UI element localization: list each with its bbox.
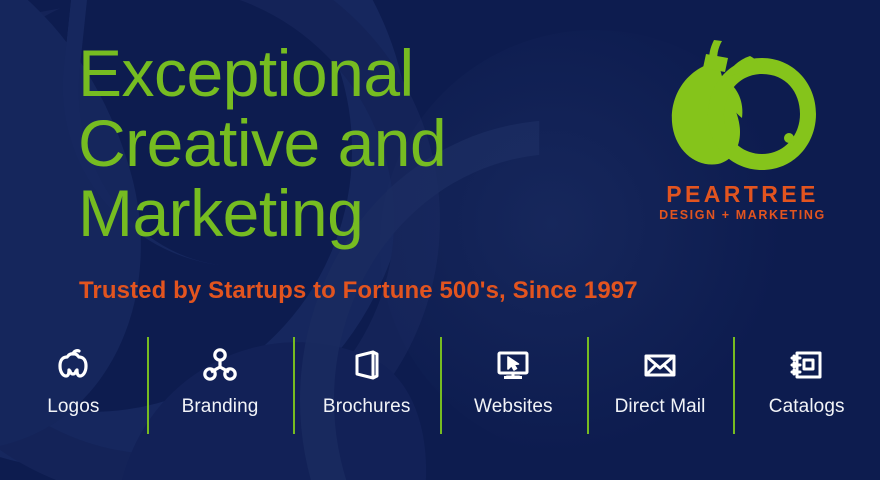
network-nodes-icon (197, 342, 243, 388)
service-item-websites[interactable]: Websites (440, 337, 587, 434)
hero-subheadline: Trusted by Startups to Fortune 500's, Si… (79, 277, 638, 305)
service-item-logos[interactable]: Logos (0, 337, 147, 434)
logo-tagline: DESIGN + MARKETING (650, 207, 835, 223)
service-label: Websites (474, 396, 553, 418)
logo-wordmark: PEARTREE (650, 181, 835, 207)
service-item-brochures[interactable]: Brochures (293, 337, 440, 434)
service-label: Direct Mail (615, 396, 706, 418)
peartree-marketing-banner: Exceptional Creative and Marketing Trust… (0, 0, 880, 480)
folded-brochure-icon (344, 342, 390, 388)
service-item-catalogs[interactable]: Catalogs (733, 337, 880, 434)
service-label: Branding (182, 396, 259, 418)
monitor-cursor-icon (490, 342, 536, 388)
apple-outline-icon (50, 342, 96, 388)
service-label: Catalogs (769, 396, 845, 418)
envelope-icon (637, 342, 683, 388)
hero-headline: Exceptional Creative and Marketing (78, 38, 446, 248)
service-item-branding[interactable]: Branding (147, 337, 294, 434)
peartree-pear-apple-mark (658, 32, 828, 177)
service-label: Logos (47, 396, 99, 418)
service-label: Brochures (323, 396, 411, 418)
peartree-logo[interactable]: PEARTREE DESIGN + MARKETING (650, 32, 835, 223)
catalog-binder-icon (784, 342, 830, 388)
services-row: Logos Branding (0, 337, 880, 434)
service-item-direct-mail[interactable]: Direct Mail (587, 337, 734, 434)
